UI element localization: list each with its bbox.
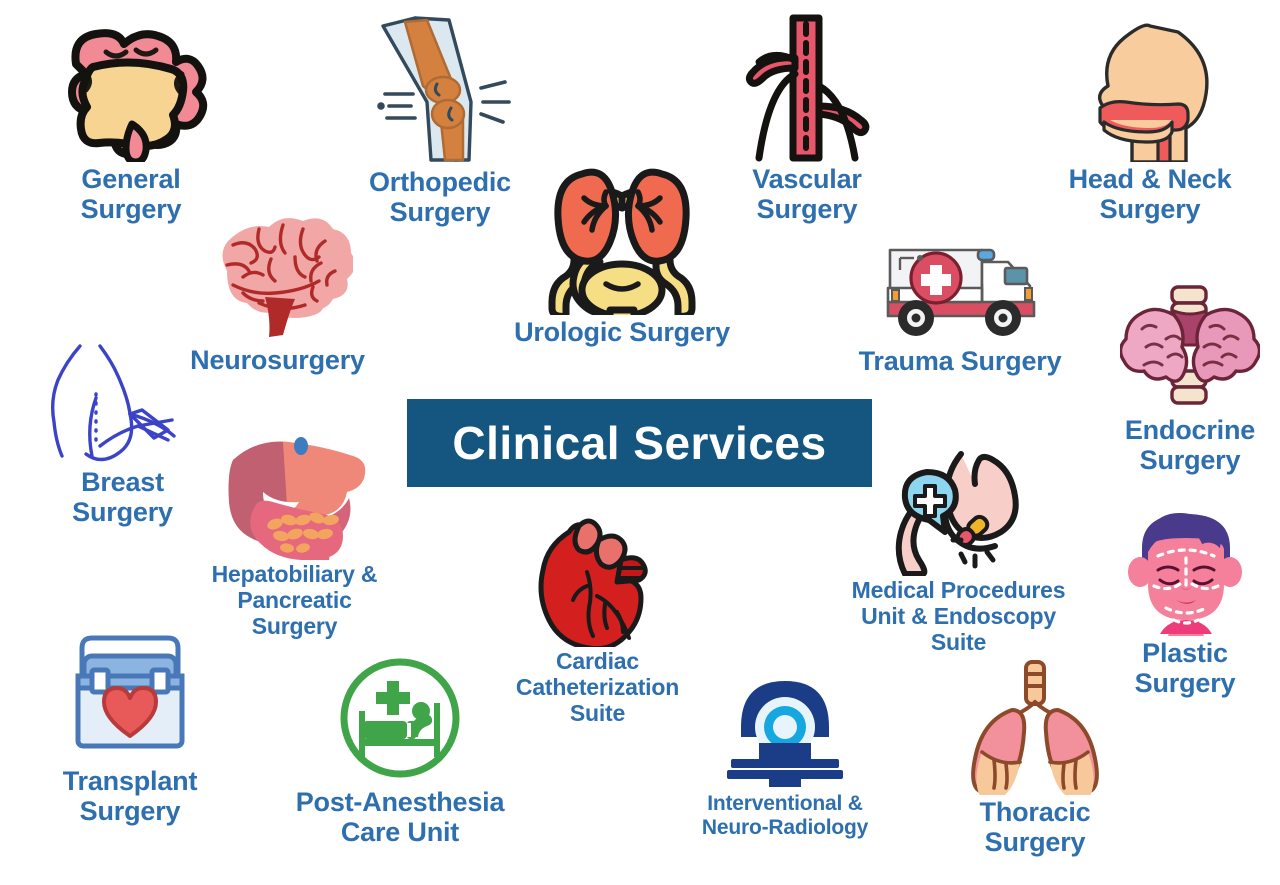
service-label: Plastic Surgery bbox=[1135, 638, 1236, 698]
service-label: Orthopedic Surgery bbox=[369, 167, 511, 227]
center-banner: Clinical Services bbox=[407, 399, 872, 487]
organ-cooler-icon bbox=[58, 624, 203, 764]
service-label: General Surgery bbox=[81, 164, 182, 224]
breast-biopsy-icon bbox=[38, 340, 208, 465]
service-endocrine-surgery[interactable]: Endocrine Surgery bbox=[1095, 285, 1280, 475]
service-transplant-surgery[interactable]: Transplant Surgery bbox=[35, 624, 225, 826]
service-label: Urologic Surgery bbox=[514, 317, 730, 347]
service-label: Neurosurgery bbox=[190, 345, 365, 375]
service-urologic-surgery[interactable]: Urologic Surgery bbox=[492, 150, 752, 347]
service-thoracic-surgery[interactable]: Thoracic Surgery bbox=[940, 660, 1130, 857]
stomach-endoscopy-icon bbox=[891, 450, 1026, 576]
service-label: Hepatobiliary & Pancreatic Surgery bbox=[212, 562, 378, 639]
service-label: Trauma Surgery bbox=[859, 346, 1062, 376]
service-hpb-surgery[interactable]: Hepatobiliary & Pancreatic Surgery bbox=[192, 420, 397, 639]
liver-pancreas-icon bbox=[215, 420, 375, 560]
service-head-neck-surgery[interactable]: Head & Neck Surgery bbox=[1040, 12, 1260, 224]
service-label: Interventional & Neuro-Radiology bbox=[702, 792, 868, 839]
service-label: Medical Procedures Unit & Endoscopy Suit… bbox=[852, 578, 1066, 655]
clinical-services-infographic: Clinical Services General Surgery bbox=[0, 0, 1280, 885]
intestine-icon bbox=[46, 12, 216, 162]
service-label: Thoracic Surgery bbox=[980, 797, 1091, 857]
service-label: Cardiac Catheterization Suite bbox=[516, 649, 679, 726]
service-breast-surgery[interactable]: Breast Surgery bbox=[30, 340, 215, 527]
service-label: Breast Surgery bbox=[72, 467, 173, 527]
lungs-icon bbox=[960, 660, 1110, 795]
service-pacu[interactable]: Post-Anesthesia Care Unit bbox=[270, 655, 530, 847]
service-label: Transplant Surgery bbox=[63, 766, 198, 826]
service-label: Post-Anesthesia Care Unit bbox=[296, 787, 505, 847]
service-label: Vascular Surgery bbox=[752, 164, 862, 224]
head-profile-icon bbox=[1058, 12, 1243, 162]
blood-vessel-icon bbox=[737, 12, 877, 162]
center-banner-title: Clinical Services bbox=[452, 416, 826, 470]
ct-scanner-icon bbox=[715, 665, 855, 790]
heart-icon bbox=[525, 512, 670, 647]
service-label: Endocrine Surgery bbox=[1125, 415, 1255, 475]
brain-icon bbox=[203, 215, 353, 343]
service-interventional-neuro-radiology[interactable]: Interventional & Neuro-Radiology bbox=[660, 665, 910, 839]
thyroid-icon bbox=[1120, 285, 1260, 413]
service-label: Head & Neck Surgery bbox=[1069, 164, 1232, 224]
service-trauma-surgery[interactable]: Trauma Surgery bbox=[845, 232, 1075, 376]
service-mpu-endoscopy-suite[interactable]: Medical Procedures Unit & Endoscopy Suit… bbox=[836, 450, 1081, 655]
service-general-surgery[interactable]: General Surgery bbox=[36, 12, 226, 224]
kidneys-icon bbox=[542, 150, 702, 315]
ambulance-icon bbox=[868, 232, 1053, 344]
face-markings-icon bbox=[1118, 508, 1253, 636]
knee-joint-icon bbox=[353, 10, 528, 165]
hospital-bed-icon bbox=[333, 655, 468, 785]
